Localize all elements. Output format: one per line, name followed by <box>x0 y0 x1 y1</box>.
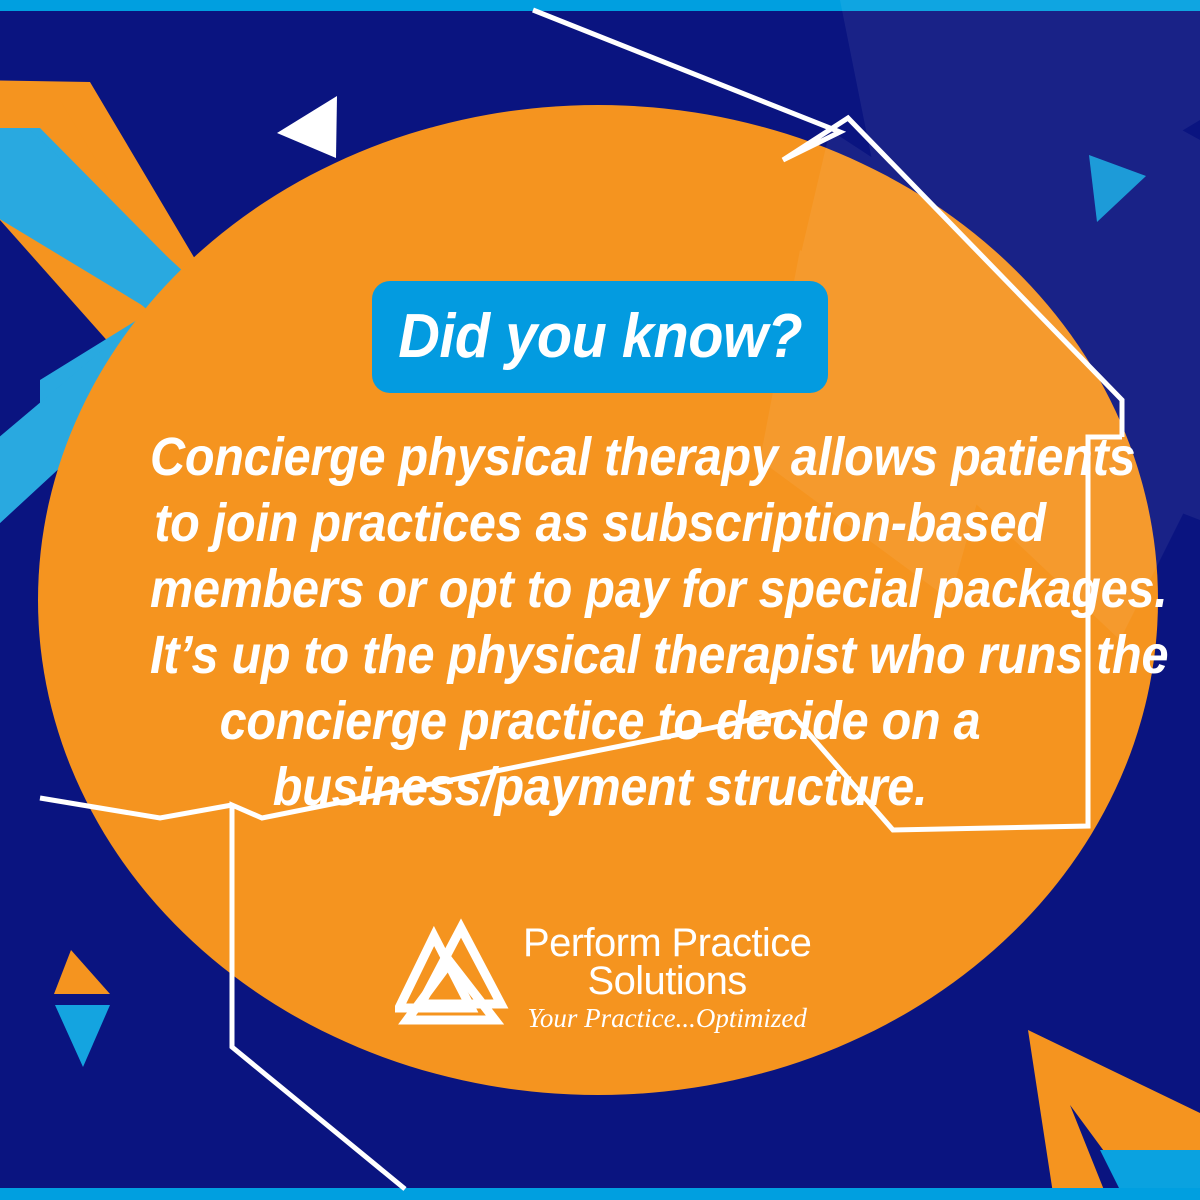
badge-label: Did you know? <box>398 306 802 368</box>
body-line: members or opt to pay for special packag… <box>150 556 1050 622</box>
did-you-know-badge: Did you know? <box>372 281 828 393</box>
brand-logo: Perform Practice Solutions Your Practice… <box>395 918 815 1038</box>
promo-graphic: Did you know? Concierge physical therapy… <box>0 0 1200 1200</box>
body-line: It’s up to the physical therapist who ru… <box>150 622 1050 688</box>
logo-tagline: Your Practice...Optimized <box>527 1002 807 1034</box>
body-line: business/payment structure. <box>150 754 1050 820</box>
logo-name-line-1: Perform Practice <box>523 924 811 962</box>
body-line: concierge practice to decide on a <box>150 688 1050 754</box>
logo-name-line-2: Solutions <box>588 962 747 1000</box>
body-line: to join practices as subscription-based <box>150 490 1050 556</box>
body-copy: Concierge physical therapy allows patien… <box>100 424 1100 820</box>
body-line: Concierge physical therapy allows patien… <box>150 424 1050 490</box>
interlocking-triangles-icon <box>395 918 513 1030</box>
